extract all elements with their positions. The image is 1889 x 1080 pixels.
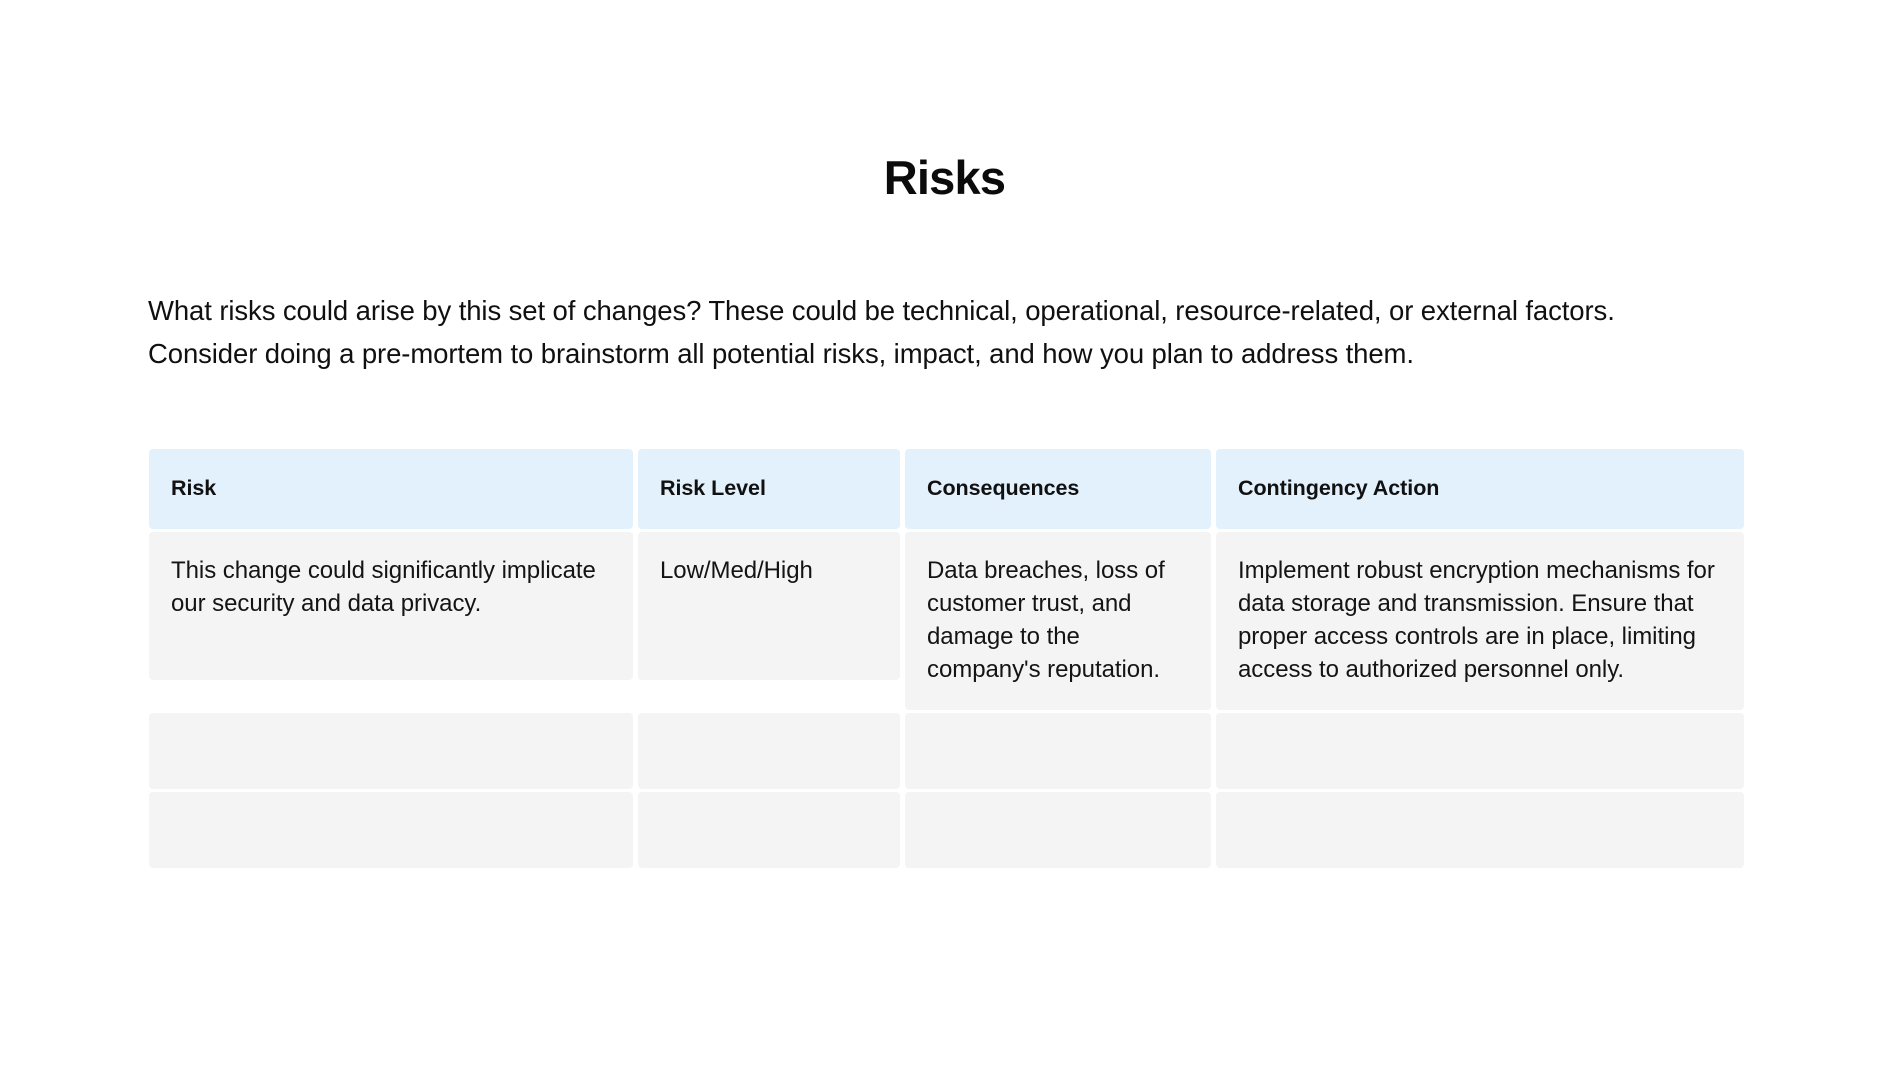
cell-consequences-text[interactable]: [905, 792, 1211, 868]
cell-consequences-text[interactable]: [905, 713, 1211, 789]
cell-risk-level[interactable]: [638, 792, 905, 871]
table-row: This change could significantly implicat…: [149, 532, 1744, 713]
risks-table: Risk Risk Level Consequences Contingency…: [149, 449, 1744, 871]
table-header-row: Risk Risk Level Consequences Contingency…: [149, 449, 1744, 532]
column-header-risk-label: Risk: [149, 449, 633, 529]
table-row: [149, 713, 1744, 792]
cell-contingency-action[interactable]: Implement robust encryption mechanisms f…: [1216, 532, 1744, 713]
cell-risk-level-text[interactable]: [638, 792, 900, 868]
cell-risk[interactable]: [149, 713, 638, 792]
cell-consequences[interactable]: [905, 792, 1216, 871]
column-header-risk[interactable]: Risk: [149, 449, 638, 532]
cell-risk[interactable]: [149, 792, 638, 871]
cell-risk-text[interactable]: [149, 713, 633, 789]
document-page: Risks What risks could arise by this set…: [0, 0, 1889, 1080]
cell-risk-level-text[interactable]: Low/Med/High: [638, 532, 900, 680]
cell-consequences[interactable]: Data breaches, loss of customer trust, a…: [905, 532, 1216, 713]
cell-consequences-text[interactable]: Data breaches, loss of customer trust, a…: [905, 532, 1211, 710]
cell-consequences[interactable]: [905, 713, 1216, 792]
cell-contingency-action[interactable]: [1216, 792, 1744, 871]
column-header-risk-level-label: Risk Level: [638, 449, 900, 529]
cell-risk[interactable]: This change could significantly implicat…: [149, 532, 638, 713]
cell-risk-level[interactable]: Low/Med/High: [638, 532, 905, 713]
column-header-consequences[interactable]: Consequences: [905, 449, 1216, 532]
column-header-contingency-action[interactable]: Contingency Action: [1216, 449, 1744, 532]
cell-risk-text[interactable]: [149, 792, 633, 868]
intro-paragraph: What risks could arise by this set of ch…: [148, 289, 1693, 375]
cell-risk-level-text[interactable]: [638, 713, 900, 789]
table-header: Risk Risk Level Consequences Contingency…: [149, 449, 1744, 532]
cell-risk-level[interactable]: [638, 713, 905, 792]
column-header-contingency-action-label: Contingency Action: [1216, 449, 1744, 529]
column-header-risk-level[interactable]: Risk Level: [638, 449, 905, 532]
cell-contingency-action-text[interactable]: [1216, 713, 1744, 789]
table-body: This change could significantly implicat…: [149, 532, 1744, 871]
cell-contingency-action-text[interactable]: Implement robust encryption mechanisms f…: [1216, 532, 1744, 710]
table-row: [149, 792, 1744, 871]
cell-risk-text[interactable]: This change could significantly implicat…: [149, 532, 633, 680]
cell-contingency-action[interactable]: [1216, 713, 1744, 792]
column-header-consequences-label: Consequences: [905, 449, 1211, 529]
page-title: Risks: [0, 152, 1889, 204]
cell-contingency-action-text[interactable]: [1216, 792, 1744, 868]
